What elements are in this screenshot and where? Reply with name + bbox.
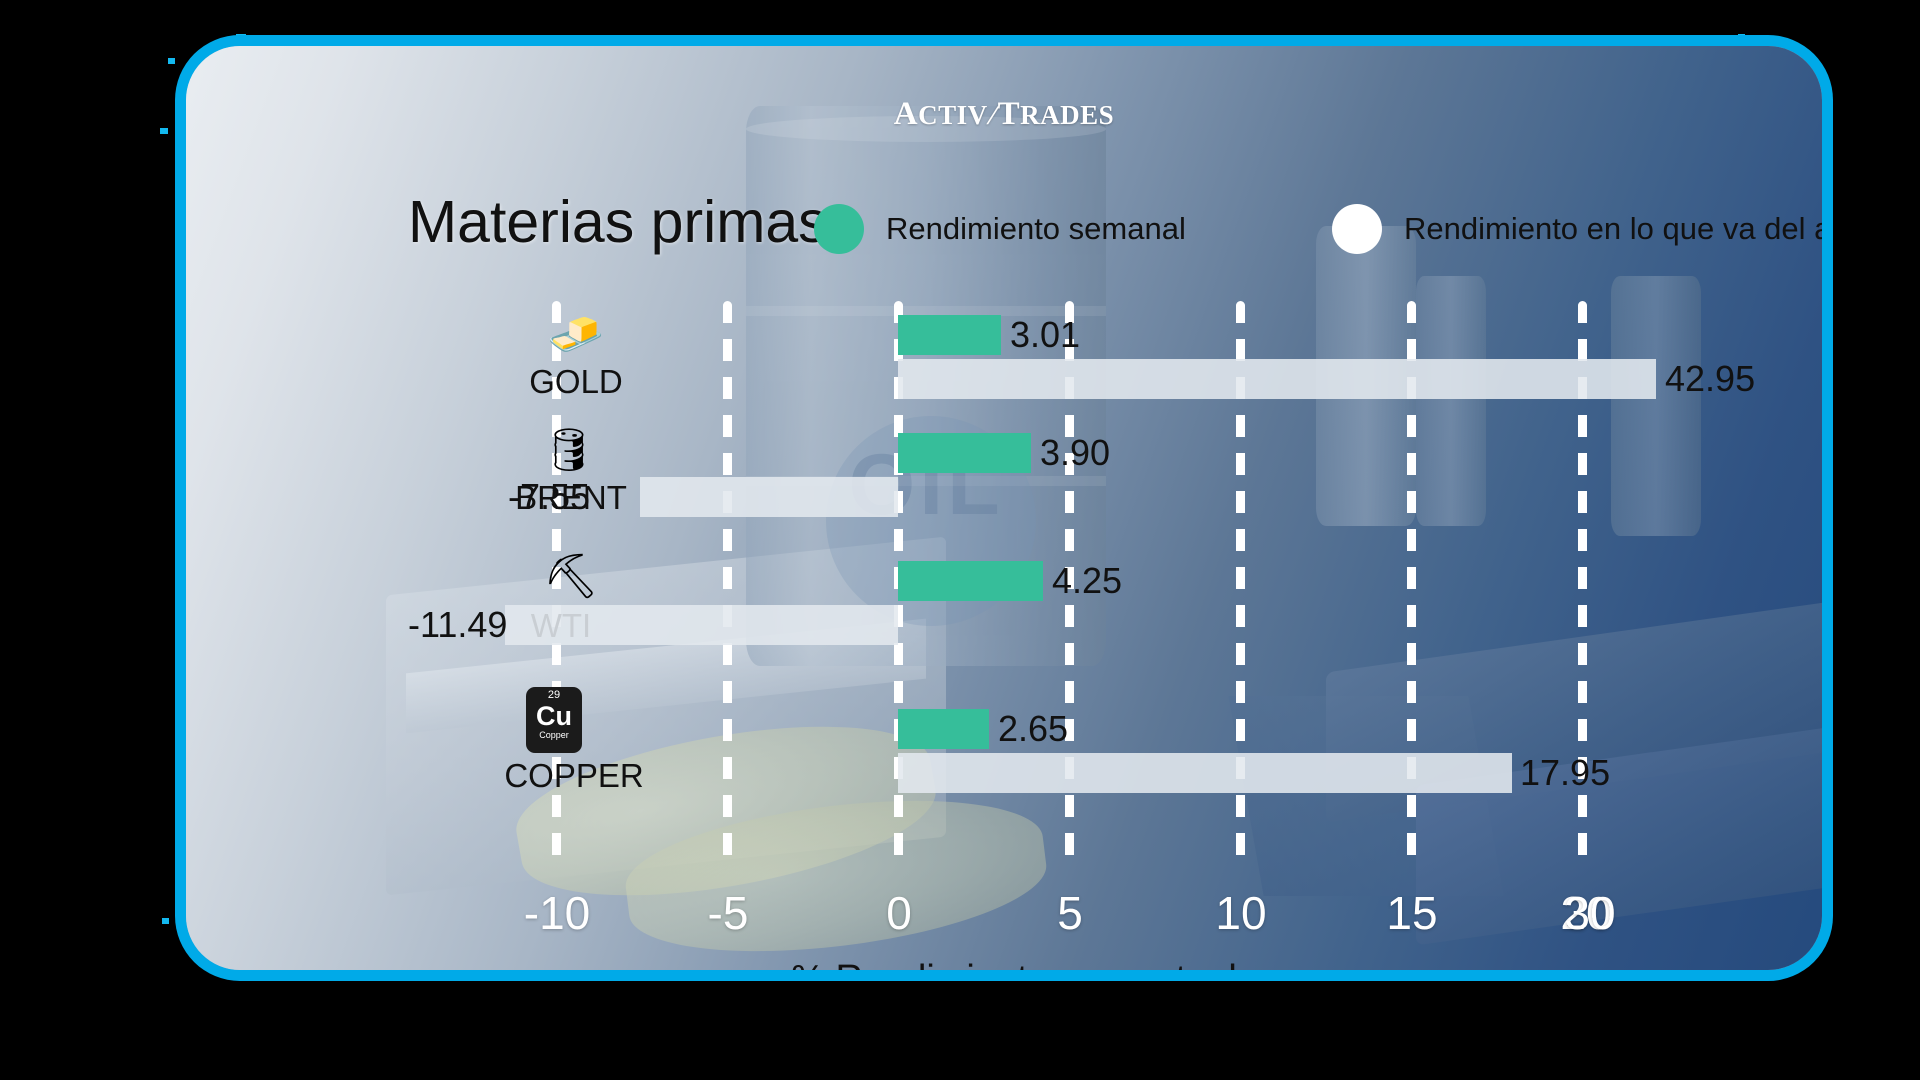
chart-panel: ACTIV/TRADES Materias primas Rendimiento… xyxy=(186,46,1822,970)
bar-wti-ytd xyxy=(505,605,898,645)
legend-dot-weekly xyxy=(814,204,864,254)
axis-tick--5: -5 xyxy=(708,886,749,940)
bar-value-wti-weekly: 4.25 xyxy=(1052,561,1122,601)
oil-pump-icon: ⛏ xyxy=(526,555,616,599)
bar-value-gold-ytd: 42.95 xyxy=(1665,359,1755,399)
bar-value-brent-ytd: -7.55 xyxy=(508,477,590,517)
bar-copper-ytd xyxy=(898,753,1512,793)
axis-tick-10: 10 xyxy=(1215,886,1266,940)
bar-group-brent: 🛢 BRENT 3.90 -7.55 xyxy=(186,423,1832,553)
axis-tick-30-overlap: 30 xyxy=(1564,886,1615,940)
plot-area: 🧈 GOLD 3.01 42.95 🛢 BRENT 3.90 -7.55 xyxy=(186,301,1832,866)
copper-symbol: Cu xyxy=(526,702,582,730)
artifact-speckle xyxy=(160,128,168,134)
legend-item-ytd: Rendimiento en lo que va del año xyxy=(1332,204,1832,254)
category-label-gold: GOLD xyxy=(486,363,666,401)
legend-item-weekly: Rendimiento semanal xyxy=(814,204,1186,254)
axis-tick-0: 0 xyxy=(886,886,912,940)
bar-group-wti: ⛏ WTI 4.25 -11.49 xyxy=(186,555,1832,685)
artifact-speckle xyxy=(168,58,175,64)
copper-atomic-number: 29 xyxy=(526,687,582,702)
category-label-copper: COPPER xyxy=(474,757,674,795)
axis-tick--10: -10 xyxy=(524,886,590,940)
axis-tick-15: 15 xyxy=(1386,886,1437,940)
bar-gold-ytd xyxy=(898,359,1656,399)
copper-element-icon: 29 Cu Copper xyxy=(526,687,582,753)
axis-title: % Rendimiento porcentual xyxy=(186,958,1832,980)
bar-copper-weekly xyxy=(898,709,989,749)
chart-card: ACTIV/TRADES Materias primas Rendimiento… xyxy=(176,36,1832,980)
screenshot-root: ACTIV/TRADES Materias primas Rendimiento… xyxy=(0,0,1920,1080)
bar-value-copper-ytd: 17.95 xyxy=(1520,753,1610,793)
bar-brent-weekly xyxy=(898,433,1031,473)
page-title: Materias primas xyxy=(408,188,828,256)
artifact-speckle xyxy=(162,918,169,924)
bar-value-wti-ytd: -11.49 xyxy=(408,605,507,645)
legend-label-weekly: Rendimiento semanal xyxy=(886,211,1186,247)
bar-value-brent-weekly: 3.90 xyxy=(1040,433,1110,473)
bar-gold-weekly xyxy=(898,315,1001,355)
bar-group-copper: 29 Cu Copper COPPER 2.65 17.95 xyxy=(186,687,1832,827)
legend-label-ytd: Rendimiento en lo que va del año xyxy=(1404,211,1832,247)
bar-brent-ytd xyxy=(640,477,898,517)
bar-group-gold: 🧈 GOLD 3.01 42.95 xyxy=(186,301,1832,431)
gold-bars-icon: 🧈 xyxy=(531,311,621,357)
bar-wti-weekly xyxy=(898,561,1043,601)
bar-value-copper-weekly: 2.65 xyxy=(998,709,1068,749)
legend-dot-ytd xyxy=(1332,204,1382,254)
activtrades-logo: ACTIV/TRADES xyxy=(186,96,1822,133)
axis-tick-5: 5 xyxy=(1057,886,1083,940)
copper-element-name: Copper xyxy=(526,730,582,741)
bar-value-gold-weekly: 3.01 xyxy=(1010,315,1080,355)
oil-barrels-icon: 🛢 xyxy=(524,429,614,471)
